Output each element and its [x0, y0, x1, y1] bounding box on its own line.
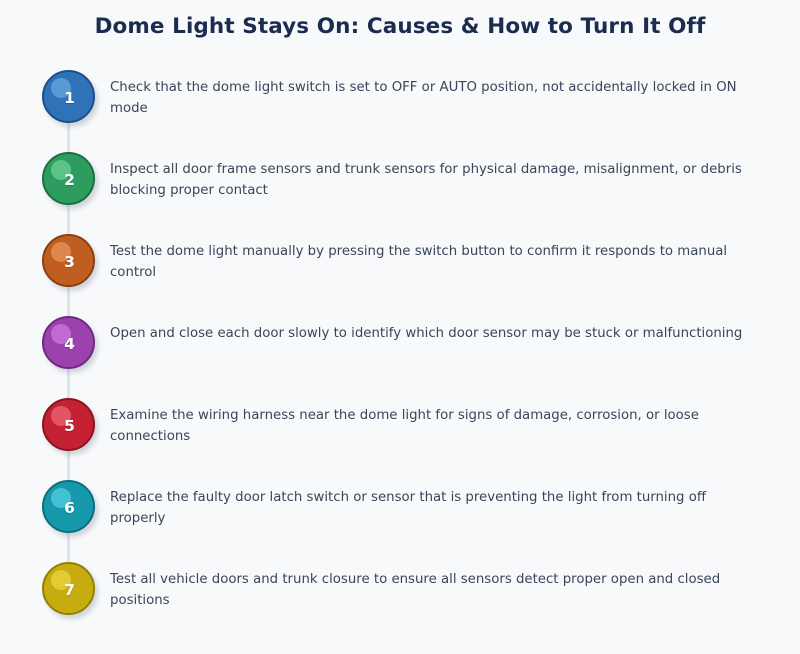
- step-marker-wrap: 1: [0, 62, 110, 144]
- step-description: Replace the faulty door latch switch or …: [110, 472, 800, 529]
- step-marker-wrap: 7: [0, 554, 110, 636]
- step-number-circle[interactable]: 1: [42, 70, 95, 123]
- step-number-circle[interactable]: 5: [42, 398, 95, 451]
- step-item: 4Open and close each door slowly to iden…: [0, 308, 800, 390]
- step-item: 6Replace the faulty door latch switch or…: [0, 472, 800, 554]
- step-number-circle[interactable]: 4: [42, 316, 95, 369]
- step-marker-wrap: 6: [0, 472, 110, 554]
- step-item: 7Test all vehicle doors and trunk closur…: [0, 554, 800, 636]
- step-marker-wrap: 4: [0, 308, 110, 390]
- infographic-page: Dome Light Stays On: Causes & How to Tur…: [0, 0, 800, 654]
- step-number-label: 6: [44, 482, 93, 531]
- step-number-label: 1: [44, 72, 93, 121]
- step-item: 5Examine the wiring harness near the dom…: [0, 390, 800, 472]
- step-marker-wrap: 3: [0, 226, 110, 308]
- step-description: Open and close each door slowly to ident…: [110, 308, 800, 344]
- step-marker-wrap: 2: [0, 144, 110, 226]
- step-number-label: 7: [44, 564, 93, 613]
- step-number-circle[interactable]: 7: [42, 562, 95, 615]
- step-item: 2Inspect all door frame sensors and trun…: [0, 144, 800, 226]
- step-description: Examine the wiring harness near the dome…: [110, 390, 800, 447]
- page-title: Dome Light Stays On: Causes & How to Tur…: [0, 14, 800, 39]
- step-item: 3Test the dome light manually by pressin…: [0, 226, 800, 308]
- step-description: Test all vehicle doors and trunk closure…: [110, 554, 800, 611]
- step-marker-wrap: 5: [0, 390, 110, 472]
- step-description: Test the dome light manually by pressing…: [110, 226, 800, 283]
- step-number-circle[interactable]: 6: [42, 480, 95, 533]
- step-number-label: 4: [44, 318, 93, 367]
- step-number-label: 3: [44, 236, 93, 285]
- step-description: Check that the dome light switch is set …: [110, 62, 800, 119]
- step-number-circle[interactable]: 2: [42, 152, 95, 205]
- step-list: 1Check that the dome light switch is set…: [0, 62, 800, 636]
- step-number-label: 2: [44, 154, 93, 203]
- step-item: 1Check that the dome light switch is set…: [0, 62, 800, 144]
- step-number-label: 5: [44, 400, 93, 449]
- step-description: Inspect all door frame sensors and trunk…: [110, 144, 800, 201]
- step-number-circle[interactable]: 3: [42, 234, 95, 287]
